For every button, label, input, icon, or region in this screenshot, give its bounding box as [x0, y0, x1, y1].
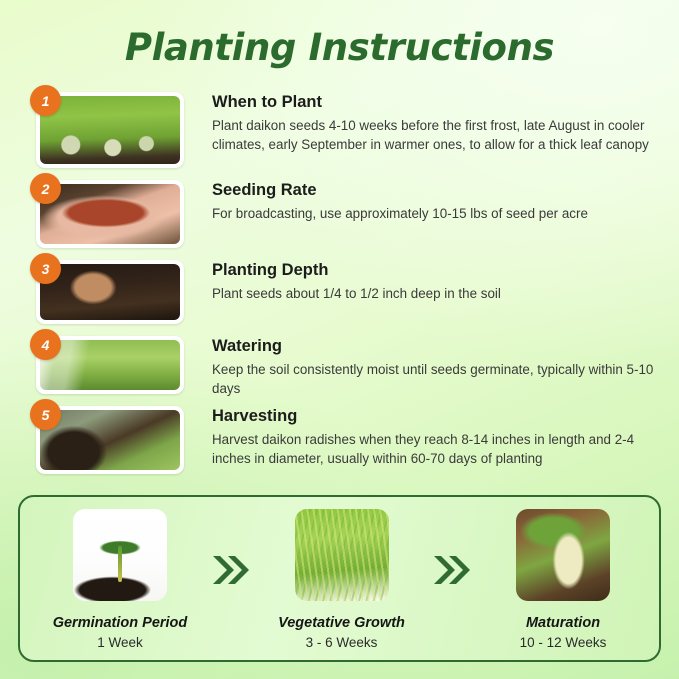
- step-text-1: When to Plant Plant daikon seeds 4-10 we…: [212, 92, 656, 155]
- stage-duration-3: 10 - 12 Weeks: [520, 635, 607, 650]
- growth-timeline-panel: Germination Period 1 Week Vegetative Gro…: [18, 495, 661, 662]
- leafy-greens-photo: [295, 509, 389, 601]
- double-chevron-right-icon: [426, 509, 478, 587]
- step-thumbnail-1: 1: [36, 92, 184, 168]
- double-chevron-right-icon: [205, 509, 257, 587]
- step-number-badge-4: 4: [30, 329, 61, 360]
- step-thumbnail-2: 2: [36, 180, 184, 248]
- step-thumbnail-3: 3: [36, 260, 184, 324]
- timeline-stage-1: Germination Period 1 Week: [36, 509, 204, 650]
- timeline-stages: Germination Period 1 Week Vegetative Gro…: [20, 497, 663, 664]
- step-text-2: Seeding Rate For broadcasting, use appro…: [212, 180, 656, 223]
- step-number-badge-5: 5: [30, 399, 61, 430]
- step-number-badge-2: 2: [30, 173, 61, 204]
- stage-duration-1: 1 Week: [97, 635, 143, 650]
- step-text-5: Harvesting Harvest daikon radishes when …: [212, 406, 656, 469]
- step-description-3: Plant seeds about 1/4 to 1/2 inch deep i…: [212, 284, 656, 304]
- step-thumbnail-4: 4: [36, 336, 184, 394]
- stage-duration-2: 3 - 6 Weeks: [306, 635, 378, 650]
- stage-name-2: Vegetative Growth: [278, 615, 405, 632]
- sprouting-seed-photo: [73, 509, 167, 601]
- step-title-4: Watering: [212, 336, 656, 357]
- irrigation-sprinkler-photo: [40, 340, 180, 390]
- step-text-3: Planting Depth Plant seeds about 1/4 to …: [212, 260, 656, 303]
- step-title-3: Planting Depth: [212, 260, 656, 281]
- step-title-1: When to Plant: [212, 92, 656, 113]
- step-description-2: For broadcasting, use approximately 10-1…: [212, 204, 656, 224]
- page-title: Planting Instructions: [0, 26, 679, 69]
- timeline-stage-3: Maturation 10 - 12 Weeks: [479, 509, 647, 650]
- step-description-1: Plant daikon seeds 4-10 weeks before the…: [212, 116, 656, 155]
- step-number-badge-1: 1: [30, 85, 61, 116]
- step-text-4: Watering Keep the soil consistently mois…: [212, 336, 656, 399]
- stage-name-1: Germination Period: [53, 615, 188, 632]
- hand-sowing-soil-photo: [40, 264, 180, 320]
- hand-holding-seeds-photo: [40, 184, 180, 244]
- step-title-2: Seeding Rate: [212, 180, 656, 201]
- step-description-5: Harvest daikon radishes when they reach …: [212, 430, 656, 469]
- step-number-badge-3: 3: [30, 253, 61, 284]
- timeline-stage-2: Vegetative Growth 3 - 6 Weeks: [258, 509, 426, 650]
- infographic-page: Planting Instructions 1 When to Plant Pl…: [0, 0, 679, 679]
- harvesting-radish-photo: [40, 410, 180, 470]
- step-description-4: Keep the soil consistently moist until s…: [212, 360, 656, 399]
- step-thumbnail-5: 5: [36, 406, 184, 474]
- step-title-5: Harvesting: [212, 406, 656, 427]
- mature-daikon-photo: [516, 509, 610, 601]
- daikon-field-photo: [40, 96, 180, 164]
- stage-name-3: Maturation: [526, 615, 600, 632]
